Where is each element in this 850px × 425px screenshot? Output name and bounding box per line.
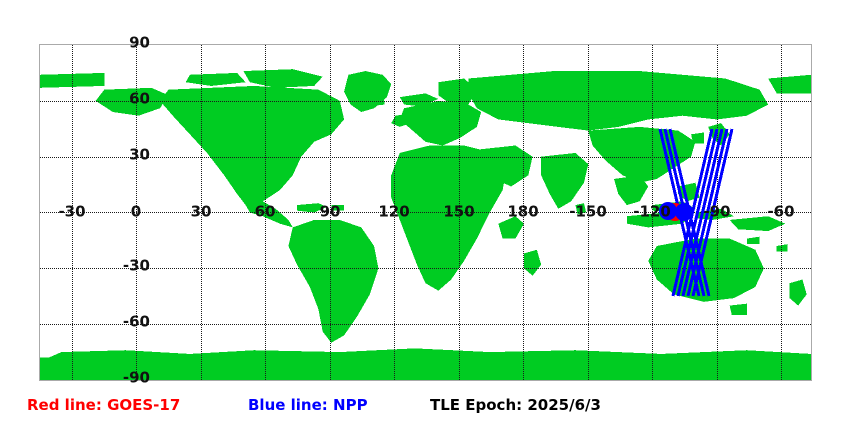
world-map-plot: -30 0 30 60 90 120 150 180 -150 -120 -90…	[39, 44, 812, 381]
lon-label--150: -150	[569, 205, 607, 220]
lat-label--90: -90	[123, 371, 150, 386]
lon-label-30: 30	[191, 205, 212, 220]
legend-npp-value: NPP	[333, 396, 368, 414]
lat-label-30: 30	[129, 148, 150, 163]
lon-label-90: 90	[320, 205, 341, 220]
lon-label-120: 120	[378, 205, 409, 220]
npp-marker-right	[675, 203, 693, 221]
legend-goes17-label: Red line:	[27, 396, 102, 414]
lon-label-180: 180	[507, 205, 538, 220]
lat-label-90: 90	[129, 36, 150, 51]
lon-label-150: 150	[443, 205, 474, 220]
lat-label--60: -60	[123, 315, 150, 330]
lon-label--120: -120	[633, 205, 671, 220]
legend-npp: Blue line: NPP	[248, 396, 368, 414]
legend-tle-epoch: TLE Epoch: 2025/6/3	[430, 396, 601, 414]
lon-label--90: -90	[703, 205, 730, 220]
lon-label-0: 0	[131, 205, 141, 220]
legend-goes17-value: GOES-17	[107, 396, 180, 414]
legend-epoch-value: 2025/6/3	[527, 396, 601, 414]
lat-label--30: -30	[123, 259, 150, 274]
legend-epoch-label: TLE Epoch:	[430, 396, 522, 414]
lat-label-60: 60	[129, 92, 150, 107]
legend-npp-label: Blue line:	[248, 396, 328, 414]
map-legend: Red line: GOES-17 Blue line: NPP TLE Epo…	[0, 396, 850, 420]
lon-label--60: -60	[767, 205, 794, 220]
satellite-track-map-page: -30 0 30 60 90 120 150 180 -150 -120 -90…	[0, 0, 850, 425]
legend-goes17: Red line: GOES-17	[27, 396, 180, 414]
orbit-overlay	[40, 45, 811, 380]
lon-label-60: 60	[255, 205, 276, 220]
lon-label--30: -30	[58, 205, 85, 220]
